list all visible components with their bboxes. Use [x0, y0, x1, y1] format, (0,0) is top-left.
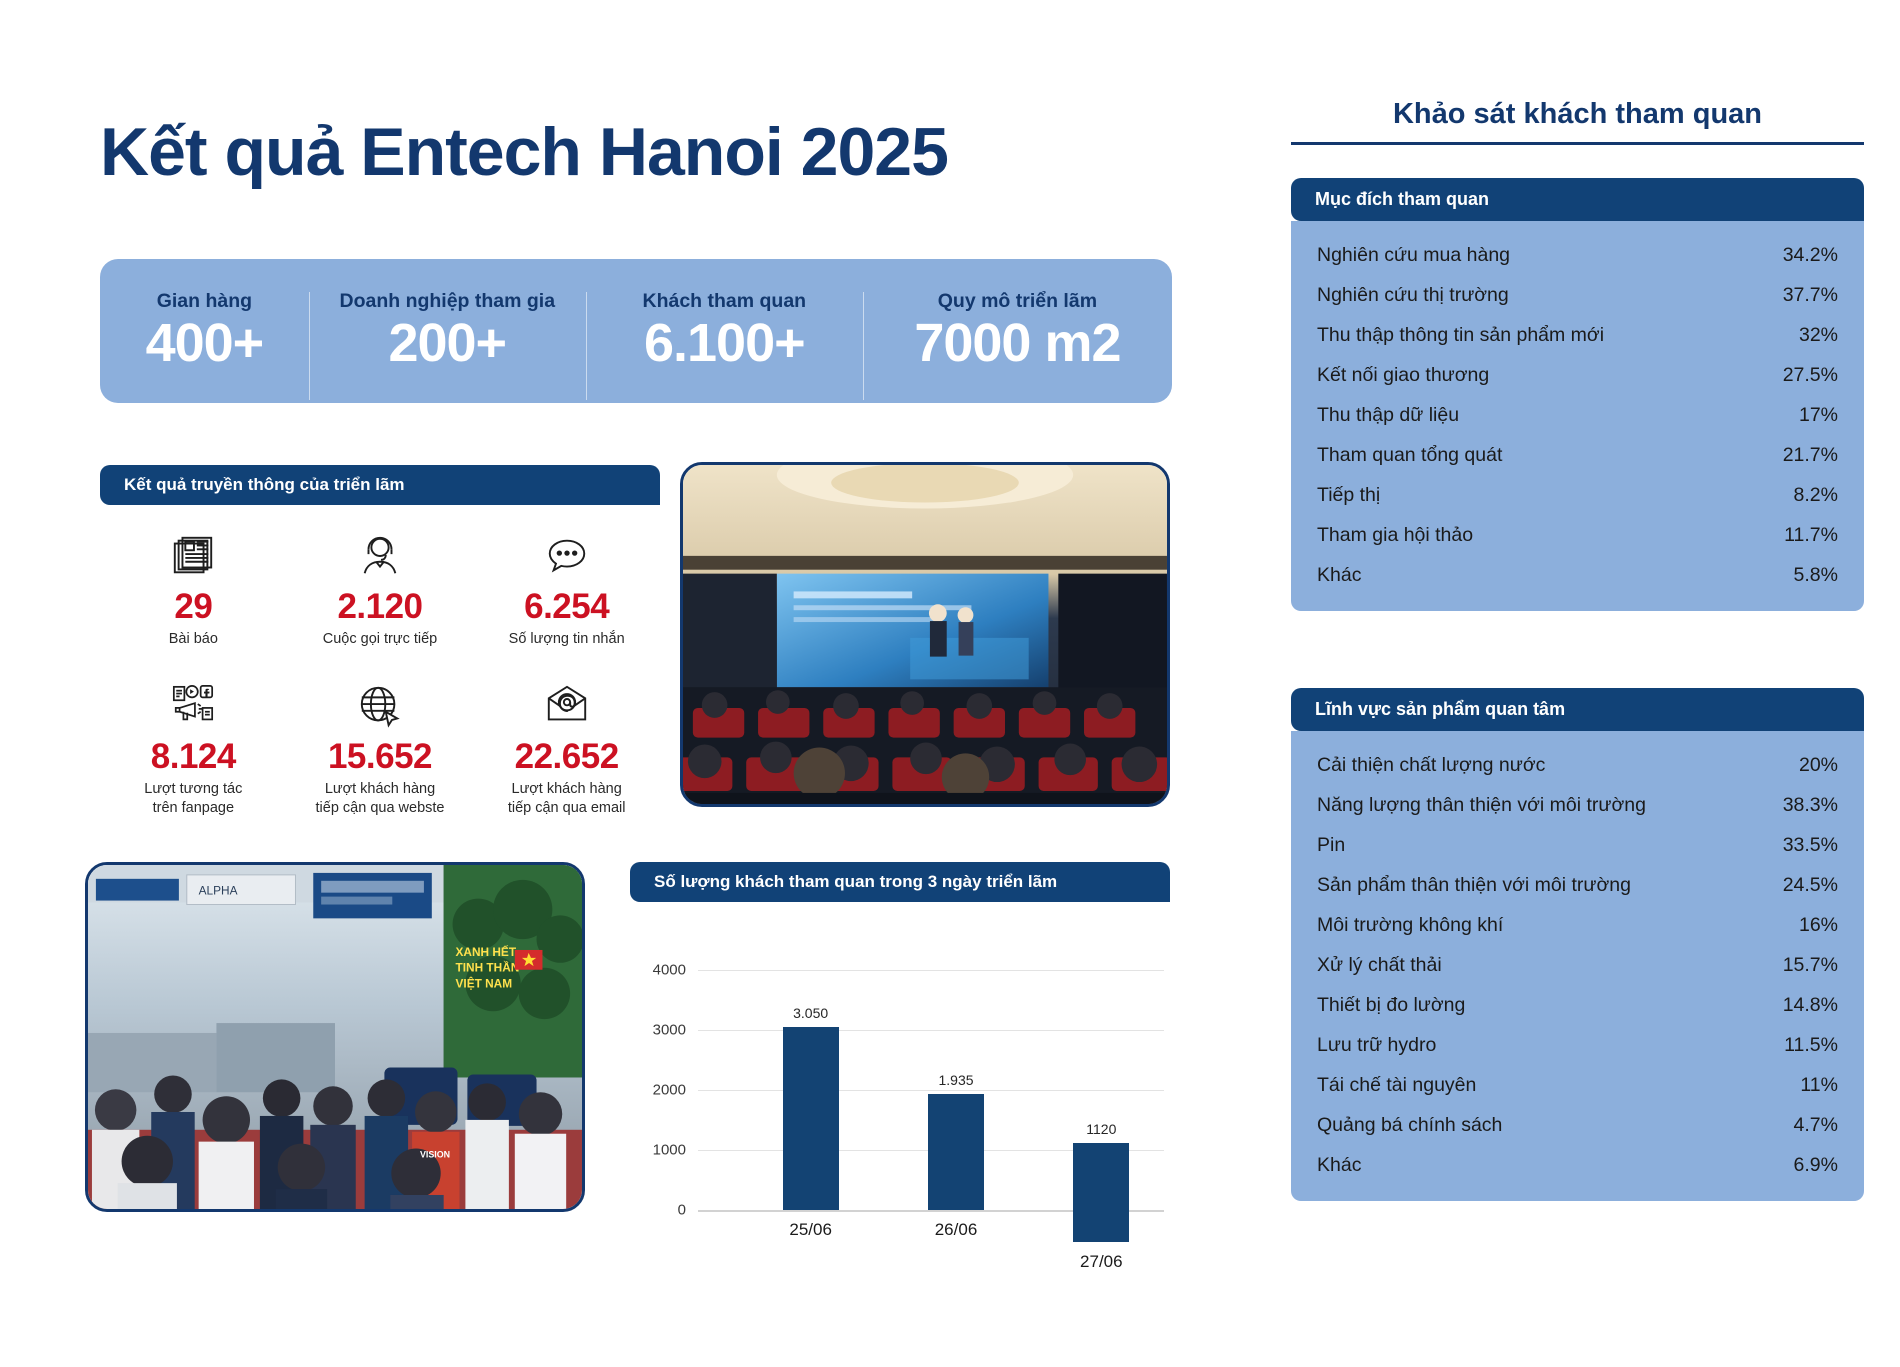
- kpi-label: Doanh nghiệp tham gia: [313, 290, 582, 313]
- chart-bar: [928, 1094, 984, 1210]
- chart-category-label: 26/06: [935, 1220, 978, 1240]
- survey-block-purpose: Mục đích tham quan Nghiên cứu mua hàng34…: [1291, 178, 1864, 611]
- survey-row-label: Tiếp thị: [1317, 484, 1380, 507]
- svg-text:XANH HẾT: XANH HẾT: [456, 944, 517, 959]
- survey-row: Nghiên cứu mua hàng34.2%: [1317, 235, 1838, 275]
- survey-row: Thu thập dữ liệu17%: [1317, 395, 1838, 435]
- svg-text:TINH THẦN: TINH THẦN: [456, 960, 520, 975]
- survey-row-percent: 38.3%: [1783, 794, 1838, 817]
- kpi-value: 400+: [104, 315, 305, 372]
- survey-row-label: Môi trường không khí: [1317, 914, 1503, 937]
- survey-row-label: Quảng bá chính sách: [1317, 1114, 1502, 1137]
- survey-row-label: Pin: [1317, 834, 1345, 857]
- media-item: 2.120 Cuộc gọi trực tiếp: [287, 531, 474, 667]
- survey-row-label: Thiết bị đo lường: [1317, 994, 1465, 1017]
- survey-row-percent: 20%: [1799, 754, 1838, 777]
- media-value: 29: [100, 589, 287, 626]
- media-value: 22.652: [473, 739, 660, 776]
- chart-y-tick-label: 2000: [630, 1082, 686, 1099]
- chart-gridline: [698, 970, 1164, 971]
- survey-row: Khác5.8%: [1317, 555, 1838, 595]
- survey-row-label: Nghiên cứu mua hàng: [1317, 244, 1510, 267]
- survey-row-label: Khác: [1317, 564, 1361, 587]
- survey-row: Tiếp thị8.2%: [1317, 475, 1838, 515]
- media-value: 6.254: [473, 589, 660, 626]
- chart-bar: [783, 1027, 839, 1210]
- email-at-icon: [473, 681, 660, 731]
- survey-row-percent: 5.8%: [1794, 564, 1838, 587]
- media-value: 8.124: [100, 739, 287, 776]
- survey-row: Tham quan tổng quát21.7%: [1317, 435, 1838, 475]
- survey-row-percent: 8.2%: [1794, 484, 1838, 507]
- survey-row: Khác6.9%: [1317, 1145, 1838, 1185]
- survey-row-label: Kết nối giao thương: [1317, 364, 1489, 387]
- headset-agent-icon: [287, 531, 474, 581]
- survey-row-percent: 11.7%: [1784, 524, 1838, 547]
- survey-row-percent: 32%: [1799, 324, 1838, 347]
- survey-row-percent: 17%: [1799, 404, 1838, 427]
- visitor-bar-chart: 400030002000100003.05025/061.93526/06112…: [630, 952, 1170, 1252]
- survey-row: Tham gia hội thảo11.7%: [1317, 515, 1838, 555]
- survey-row-label: Cải thiện chất lượng nước: [1317, 754, 1545, 777]
- survey-row: Cải thiện chất lượng nước20%: [1317, 745, 1838, 785]
- survey-row-percent: 4.7%: [1794, 1114, 1838, 1137]
- survey-row: Tái chế tài nguyên11%: [1317, 1065, 1838, 1105]
- survey-row-label: Khác: [1317, 1154, 1361, 1177]
- media-item: 22.652 Lượt khách hàng tiếp cận qua emai…: [473, 681, 660, 817]
- survey-row-label: Lưu trữ hydro: [1317, 1034, 1436, 1057]
- media-value: 15.652: [287, 739, 474, 776]
- kpi-cell-area: Quy mô triển lãm 7000 m2: [863, 284, 1172, 378]
- survey-row: Kết nối giao thương27.5%: [1317, 355, 1838, 395]
- survey-row-percent: 15.7%: [1783, 954, 1838, 977]
- survey-row-label: Tham quan tổng quát: [1317, 444, 1502, 467]
- survey-row-percent: 16%: [1799, 914, 1838, 937]
- survey-row-label: Tham gia hội thảo: [1317, 524, 1473, 547]
- survey-row: Xử lý chất thải15.7%: [1317, 945, 1838, 985]
- chart-category-label: 25/06: [789, 1220, 832, 1240]
- survey-section-title: Khảo sát khách tham quan: [1255, 98, 1900, 131]
- survey-row: Quảng bá chính sách4.7%: [1317, 1105, 1838, 1145]
- chart-y-tick-label: 1000: [630, 1142, 686, 1159]
- chart-bar-value-label: 1120: [1086, 1121, 1116, 1137]
- chart-bar-value-label: 3.050: [793, 1005, 828, 1021]
- survey-row: Nghiên cứu thị trường37.7%: [1317, 275, 1838, 315]
- svg-text:ALPHA: ALPHA: [199, 884, 238, 898]
- survey-row-percent: 21.7%: [1783, 444, 1838, 467]
- media-item: 29 Bài báo: [100, 531, 287, 667]
- chart-y-tick-label: 0: [630, 1202, 686, 1219]
- survey-block-body: Cải thiện chất lượng nước20%Năng lượng t…: [1291, 731, 1864, 1201]
- visitor-chart-card: Số lượng khách tham quan trong 3 ngày tr…: [630, 862, 1170, 1252]
- survey-row-percent: 24.5%: [1783, 874, 1838, 897]
- media-label: Cuộc gọi trực tiếp: [287, 630, 474, 649]
- survey-block-header: Mục đích tham quan: [1291, 178, 1864, 221]
- media-item: 8.124 Lượt tương tác trên fanpage: [100, 681, 287, 817]
- survey-row-label: Nghiên cứu thị trường: [1317, 284, 1509, 307]
- media-results-grid: 29 Bài báo 2.120 Cuộc gọi trực tiếp: [100, 505, 660, 818]
- kpi-summary-band: Gian hàng 400+ Doanh nghiệp tham gia 200…: [100, 259, 1172, 403]
- survey-row-percent: 14.8%: [1783, 994, 1838, 1017]
- svg-text:VISION: VISION: [420, 1149, 450, 1159]
- visitor-chart-header: Số lượng khách tham quan trong 3 ngày tr…: [630, 862, 1170, 902]
- social-media-icon: [100, 681, 287, 731]
- survey-row: Thiết bị đo lường14.8%: [1317, 985, 1838, 1025]
- chart-category-label: 27/06: [1080, 1252, 1123, 1272]
- survey-row-percent: 11%: [1800, 1074, 1838, 1097]
- kpi-value: 7000 m2: [867, 315, 1168, 372]
- media-label: Lượt khách hàng tiếp cận qua email: [473, 780, 660, 818]
- survey-row-label: Thu thập thông tin sản phẩm mới: [1317, 324, 1604, 347]
- survey-row-label: Thu thập dữ liệu: [1317, 404, 1459, 427]
- chart-bar-value-label: 1.935: [938, 1072, 973, 1088]
- kpi-value: 6.100+: [590, 315, 859, 372]
- media-item: 6.254 Số lượng tin nhắn: [473, 531, 660, 667]
- survey-row: Pin33.5%: [1317, 825, 1838, 865]
- survey-block-interest: Lĩnh vực sản phẩm quan tâm Cải thiện chấ…: [1291, 688, 1864, 1201]
- survey-row-percent: 37.7%: [1783, 284, 1838, 307]
- media-results-card: Kết quả truyền thông của triển lãm 29 Bà…: [100, 465, 660, 815]
- media-label: Bài báo: [100, 630, 287, 649]
- chart-bar: [1073, 1143, 1129, 1242]
- survey-row-percent: 11.5%: [1784, 1034, 1838, 1057]
- survey-title-divider: [1291, 142, 1864, 145]
- media-label: Số lượng tin nhắn: [473, 630, 660, 649]
- chart-y-tick-label: 3000: [630, 1022, 686, 1039]
- media-item: 15.652 Lượt khách hàng tiếp cận qua webs…: [287, 681, 474, 817]
- survey-column: Khảo sát khách tham quan Mục đích tham q…: [1255, 0, 1900, 1367]
- survey-row-label: Tái chế tài nguyên: [1317, 1074, 1476, 1097]
- kpi-cell-exhibitors: Doanh nghiệp tham gia 200+: [309, 284, 586, 378]
- survey-row: Năng lượng thân thiện với môi trường38.3…: [1317, 785, 1838, 825]
- kpi-value: 200+: [313, 315, 582, 372]
- chart-gridline: [698, 1030, 1164, 1031]
- survey-row: Sản phẩm thân thiện với môi trường24.5%: [1317, 865, 1838, 905]
- kpi-label: Quy mô triển lãm: [867, 290, 1168, 313]
- kpi-cell-booths: Gian hàng 400+: [100, 284, 309, 378]
- media-label: Lượt khách hàng tiếp cận qua webste: [287, 780, 474, 818]
- survey-row-percent: 6.9%: [1794, 1154, 1838, 1177]
- page-title: Kết quả Entech Hanoi 2025: [100, 118, 948, 186]
- chart-y-tick-label: 4000: [630, 962, 686, 979]
- survey-row-percent: 27.5%: [1783, 364, 1838, 387]
- globe-cursor-icon: [287, 681, 474, 731]
- exhibition-crowd-photo: ALPHA XANH HẾT TINH THẦN VIỆT NAM: [85, 862, 585, 1212]
- survey-row: Thu thập thông tin sản phẩm mới32%: [1317, 315, 1838, 355]
- chat-bubble-icon: [473, 531, 660, 581]
- kpi-label: Gian hàng: [104, 290, 305, 313]
- survey-row-percent: 33.5%: [1783, 834, 1838, 857]
- media-label: Lượt tương tác trên fanpage: [100, 780, 287, 818]
- survey-row-label: Năng lượng thân thiện với môi trường: [1317, 794, 1646, 817]
- media-results-header: Kết quả truyền thông của triển lãm: [100, 465, 660, 505]
- svg-text:VIỆT NAM: VIỆT NAM: [456, 976, 513, 991]
- survey-row-label: Xử lý chất thải: [1317, 954, 1442, 977]
- kpi-cell-visitors: Khách tham quan 6.100+: [586, 284, 863, 378]
- kpi-label: Khách tham quan: [590, 290, 859, 313]
- chart-gridline: [698, 1090, 1164, 1091]
- media-value: 2.120: [287, 589, 474, 626]
- survey-row: Lưu trữ hydro11.5%: [1317, 1025, 1838, 1065]
- left-column: Kết quả Entech Hanoi 2025 Gian hàng 400+…: [0, 0, 1255, 1367]
- survey-block-header: Lĩnh vực sản phẩm quan tâm: [1291, 688, 1864, 731]
- conference-hall-photo: [680, 462, 1170, 807]
- survey-row: Môi trường không khí16%: [1317, 905, 1838, 945]
- survey-row-percent: 34.2%: [1783, 244, 1838, 267]
- survey-row-label: Sản phẩm thân thiện với môi trường: [1317, 874, 1631, 897]
- survey-block-body: Nghiên cứu mua hàng34.2%Nghiên cứu thị t…: [1291, 221, 1864, 611]
- newspaper-icon: [100, 531, 287, 581]
